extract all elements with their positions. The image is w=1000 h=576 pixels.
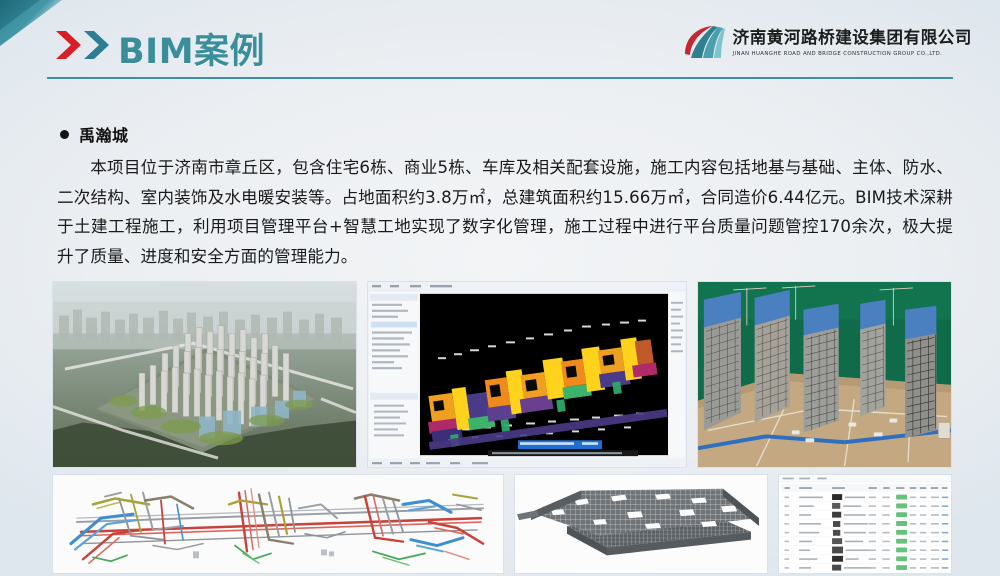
gallery-row-2	[52, 474, 952, 574]
aerial-rendering-image	[52, 281, 357, 468]
header-rule	[47, 77, 953, 79]
slide-header: BIM案例 济南黄河路桥建设集团有限公司 JINAN HUANGHE ROAD …	[0, 0, 1000, 88]
gallery-row-1	[52, 281, 952, 468]
chevron-group	[54, 30, 116, 64]
project-description: 本项目位于济南市章丘区，包含住宅6栋、商业5栋、车库及相关配套设施，施工内容包括…	[57, 153, 953, 271]
bullet-dot-icon	[60, 130, 69, 139]
company-swoosh-logo-icon	[682, 24, 726, 62]
rebar-mesh-model-image	[514, 474, 768, 574]
company-name-en: JINAN HUANGHE ROAD AND BRIDGE CONSTRUCTI…	[733, 51, 972, 57]
management-platform-table-image	[778, 474, 952, 574]
company-logo-text: 济南黄河路桥建设集团有限公司 JINAN HUANGHE ROAD AND BR…	[733, 29, 972, 56]
project-heading: 禹瀚城	[60, 122, 129, 146]
page-title: BIM案例	[118, 23, 265, 74]
project-name: 禹瀚城	[79, 122, 129, 146]
cad-structural-model-image	[367, 281, 687, 468]
bim-3d-towers-image	[697, 281, 952, 468]
company-name-cn: 济南黄河路桥建设集团有限公司	[733, 29, 972, 47]
company-logo: 济南黄河路桥建设集团有限公司 JINAN HUANGHE ROAD AND BR…	[682, 24, 972, 62]
slide-root: BIM案例 济南黄河路桥建设集团有限公司 JINAN HUANGHE ROAD …	[0, 0, 1000, 576]
chevron-right-teal-icon	[82, 30, 116, 64]
mep-pipeline-model-image	[52, 474, 504, 574]
